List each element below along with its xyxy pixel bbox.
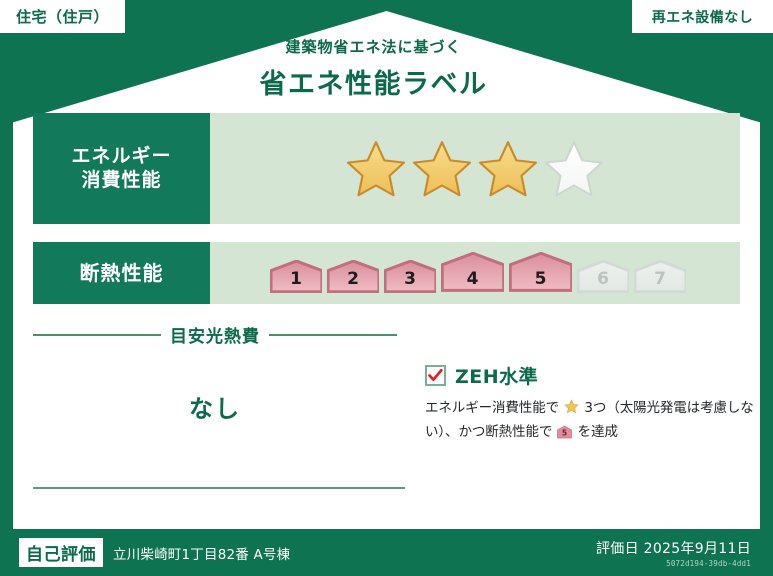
insulation-grade-number: 2	[347, 269, 359, 289]
insulation-grade-number: 5	[535, 269, 547, 289]
page-title: 建築物省エネ法に基づく 省エネ性能ラベル	[0, 36, 747, 101]
heading-rule-left	[33, 334, 161, 336]
star-rating	[345, 139, 605, 199]
badge-dwelling-type: 住宅（住戸）	[0, 0, 128, 36]
utility-cost-value: なし	[33, 389, 397, 424]
row-energy-body	[210, 113, 740, 224]
row-energy-label: エネルギー 消費性能	[33, 113, 210, 224]
row-energy-performance: エネルギー 消費性能	[33, 113, 740, 224]
row-energy-label-line1: エネルギー	[71, 145, 171, 169]
star-empty-icon	[543, 139, 605, 199]
row-energy-label-line2: 消費性能	[81, 169, 161, 193]
star-filled-icon	[477, 139, 539, 199]
zeh-desc-part1: エネルギー消費性能で	[425, 400, 559, 416]
performance-rows: エネルギー 消費性能 断熱性能 1234567	[33, 113, 740, 304]
insulation-grade-5: 5	[509, 252, 573, 294]
insulation-grade-scale: 1234567	[264, 252, 687, 294]
utility-cost-divider	[33, 487, 405, 489]
insulation-grade-number: 3	[404, 269, 416, 289]
inline-star-icon	[564, 399, 579, 414]
insulation-grade-2: 2	[327, 260, 380, 294]
footer-date-value: 2025年9月11日	[644, 541, 751, 557]
row-insulation-performance: 断熱性能 1234567	[33, 242, 740, 304]
footer-hash: 5072d194-39db-4dd1	[596, 559, 751, 568]
insulation-grade-3: 3	[384, 260, 437, 294]
star-filled-icon	[345, 139, 407, 199]
star-filled-icon	[411, 139, 473, 199]
zeh-panel: ZEH水準 エネルギー消費性能で 3つ（太陽光発電は考慮しない）、かつ断熱性能で…	[417, 318, 760, 518]
badge-renewable-label: 再エネ設備なし	[652, 7, 754, 27]
inline-house-grade-icon: 5	[557, 425, 572, 439]
zeh-title: ZEH水準	[455, 362, 538, 389]
insulation-grade-6: 6	[577, 260, 630, 294]
badge-renewable-equipment: 再エネ設備なし	[629, 0, 773, 36]
zeh-checkbox[interactable]	[425, 365, 446, 386]
row-insulation-label-text: 断熱性能	[80, 261, 164, 286]
insulation-grade-4: 4	[441, 252, 505, 294]
footer: 自己評価 立川柴崎町1丁目82番 A号棟 評価日 2025年9月11日 5072…	[0, 529, 773, 576]
insulation-grade-number: 1	[290, 269, 302, 289]
checkmark-icon	[428, 368, 443, 383]
zeh-heading: ZEH水準	[425, 362, 760, 389]
energy-performance-label: 住宅（住戸） 再エネ設備なし 建築物省エネ法に基づく 省エネ性能ラベル エネルギ…	[0, 0, 773, 576]
title-subtitle: 建築物省エネ法に基づく	[0, 36, 747, 57]
title-main: 省エネ性能ラベル	[0, 62, 747, 101]
insulation-grade-number: 4	[467, 269, 479, 289]
insulation-grade-1: 1	[270, 260, 323, 294]
footer-date-label: 評価日	[596, 541, 639, 557]
footer-address: 立川柴崎町1丁目82番 A号棟	[113, 543, 290, 563]
utility-cost-panel: 目安光熱費 なし	[13, 318, 417, 518]
footer-meta: 評価日 2025年9月11日 5072d194-39db-4dd1	[596, 538, 751, 568]
insulation-grade-7: 7	[634, 260, 687, 294]
insulation-grade-number: 6	[597, 269, 609, 289]
footer-date: 評価日 2025年9月11日	[596, 538, 751, 558]
insulation-grade-number: 7	[654, 269, 666, 289]
utility-cost-heading: 目安光熱費	[33, 322, 397, 347]
utility-cost-heading-text: 目安光熱費	[170, 322, 260, 347]
zeh-description: エネルギー消費性能で 3つ（太陽光発電は考慮しない）、かつ断熱性能で 5 を達成	[425, 397, 757, 444]
row-insulation-label: 断熱性能	[33, 242, 210, 304]
lower-section: 目安光熱費 なし ZEH水準 エネルギー消費性能で 3つ（太陽光発	[13, 318, 760, 518]
zeh-desc-part3: を達成	[578, 424, 618, 440]
badge-dwelling-label: 住宅（住戸）	[16, 6, 109, 27]
footer-evaluation-badge: 自己評価	[19, 538, 103, 567]
row-insulation-body: 1234567	[210, 242, 740, 304]
svg-text:5: 5	[562, 428, 567, 437]
heading-rule-right	[269, 334, 397, 336]
